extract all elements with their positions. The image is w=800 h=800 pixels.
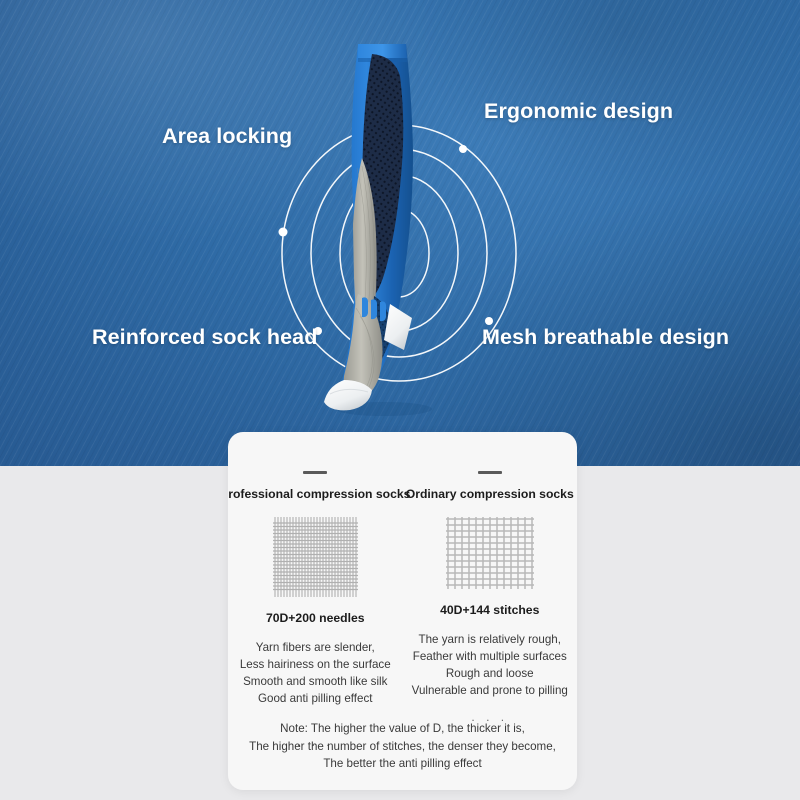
divider-dash-icon [478,471,502,474]
sparse-mesh-icon [444,515,536,591]
feature-label-area-locking: Area locking [162,124,292,149]
feature-label-reinforced-sock-head: Reinforced sock head [92,325,317,350]
note-line: The higher the number of stitches, the d… [228,738,577,756]
feature-label-ergonomic-design: Ergonomic design [484,99,673,124]
description-line: Rough and loose [412,665,568,682]
comparison-column-ordinary: Ordinary compression socks [403,432,578,749]
description-professional: Yarn fibers are slender, Less hairiness … [240,639,391,707]
description-line: Feather with multiple surfaces [412,648,568,665]
note-line: The better the anti pilling effect [228,755,577,773]
hero-banner: Area locking Ergonomic design Reinforced… [0,0,800,466]
compression-sock-image [300,28,500,428]
description-line: Smooth and smooth like silk [240,673,391,690]
comparison-card: Professional compression socks [228,432,577,790]
product-infographic: Area locking Ergonomic design Reinforced… [0,0,800,800]
dense-mesh-icon [272,515,358,599]
needle-count-ordinary: 40D+144 stitches [440,603,539,617]
ring-dot-left [279,228,288,237]
comparison-column-professional: Professional compression socks [228,432,403,749]
description-line: Yarn fibers are slender, [240,639,391,656]
needle-count-professional: 70D+200 needles [266,611,365,625]
description-ordinary: The yarn is relatively rough, Feather wi… [412,631,568,699]
description-line: Good anti pilling effect [240,690,391,707]
description-line: The yarn is relatively rough, [412,631,568,648]
column-title-professional: Professional compression socks [228,487,410,501]
note-line: Note: The higher the value of D, the thi… [228,720,577,738]
description-line: Less hairiness on the surface [240,656,391,673]
comparison-columns: Professional compression socks [228,432,577,749]
divider-dash-icon [303,471,327,474]
sock-cuff [358,44,407,58]
card-note: Note: The higher the value of D, the thi… [228,720,577,773]
description-line: Vulnerable and prone to pilling [412,682,568,699]
column-title-ordinary: Ordinary compression socks [406,487,574,501]
feature-label-mesh-breathable-design: Mesh breathable design [482,325,729,350]
